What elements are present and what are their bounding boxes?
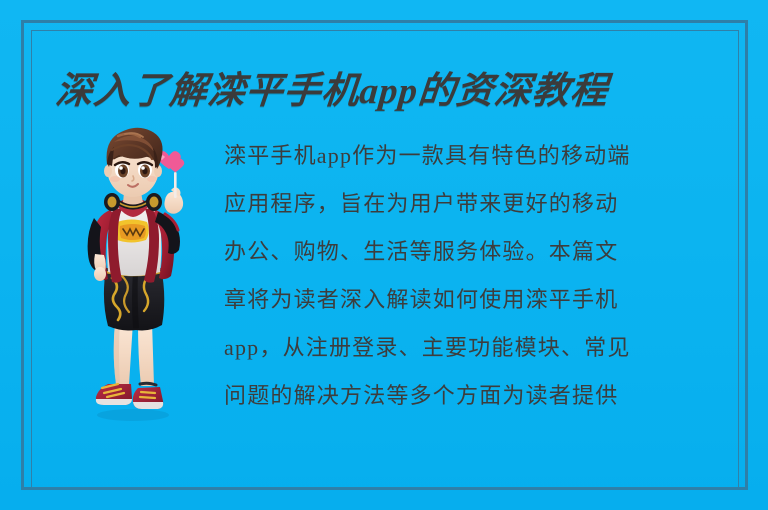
body-paragraph: 滦平手机app作为一款具有特色的移动端 应用程序，旨在为用户带来更好的移动 办公… — [224, 132, 742, 420]
legs — [114, 322, 154, 386]
shoe-right — [133, 383, 163, 409]
body-line: 问题的解决方法等多个方面为读者提供 — [224, 372, 742, 420]
poster-canvas: 深入了解滦平手机app的资深教程 滦平手机app作为一款具有特色的移动端 应用程… — [0, 0, 768, 510]
body-line: app，从注册登录、主要功能模块、常见 — [224, 324, 742, 372]
left-arm — [94, 254, 106, 281]
character-shadow — [97, 409, 169, 421]
shoe-left — [96, 384, 132, 405]
raised-hand — [164, 187, 183, 214]
body-line: 办公、购物、生活等服务体验。本篇文 — [224, 228, 742, 276]
body-line: 应用程序，旨在为用户带来更好的移动 — [224, 180, 742, 228]
page-title: 深入了解滦平手机app的资深教程 — [54, 60, 719, 114]
body-line: 章将为读者深入解读如何使用滦平手机 — [224, 276, 742, 324]
chibi-boy-illustration — [70, 126, 196, 422]
body-line: 滦平手机app作为一款具有特色的移动端 — [224, 132, 742, 180]
